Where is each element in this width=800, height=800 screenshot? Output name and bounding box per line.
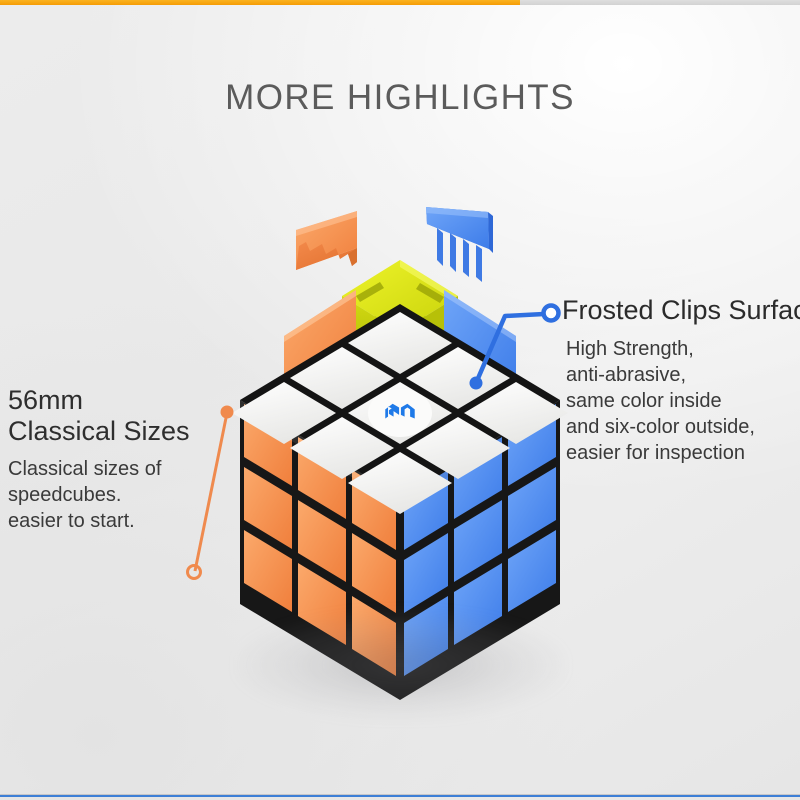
callout-frosted-clips-surface: Frosted Clips Surface High Strength, ant… — [562, 295, 800, 466]
callout-body: High Strength, anti-abrasive, same color… — [562, 336, 800, 466]
callout-body: Classical sizes of speedcubes. easier to… — [8, 456, 238, 534]
bottom-accent-rule — [0, 795, 800, 797]
cube-shadow — [236, 610, 566, 720]
highlights-page: MORE HIGHLIGHTS — [0, 0, 800, 800]
callout-heading: Frosted Clips Surface — [562, 295, 800, 326]
exploded-clip-tile-blue — [426, 207, 493, 282]
callout-heading: 56mm Classical Sizes — [8, 385, 238, 448]
callout-classical-sizes: 56mm Classical Sizes Classical sizes of … — [8, 385, 238, 534]
exploded-clip-tile-orange — [296, 211, 357, 270]
